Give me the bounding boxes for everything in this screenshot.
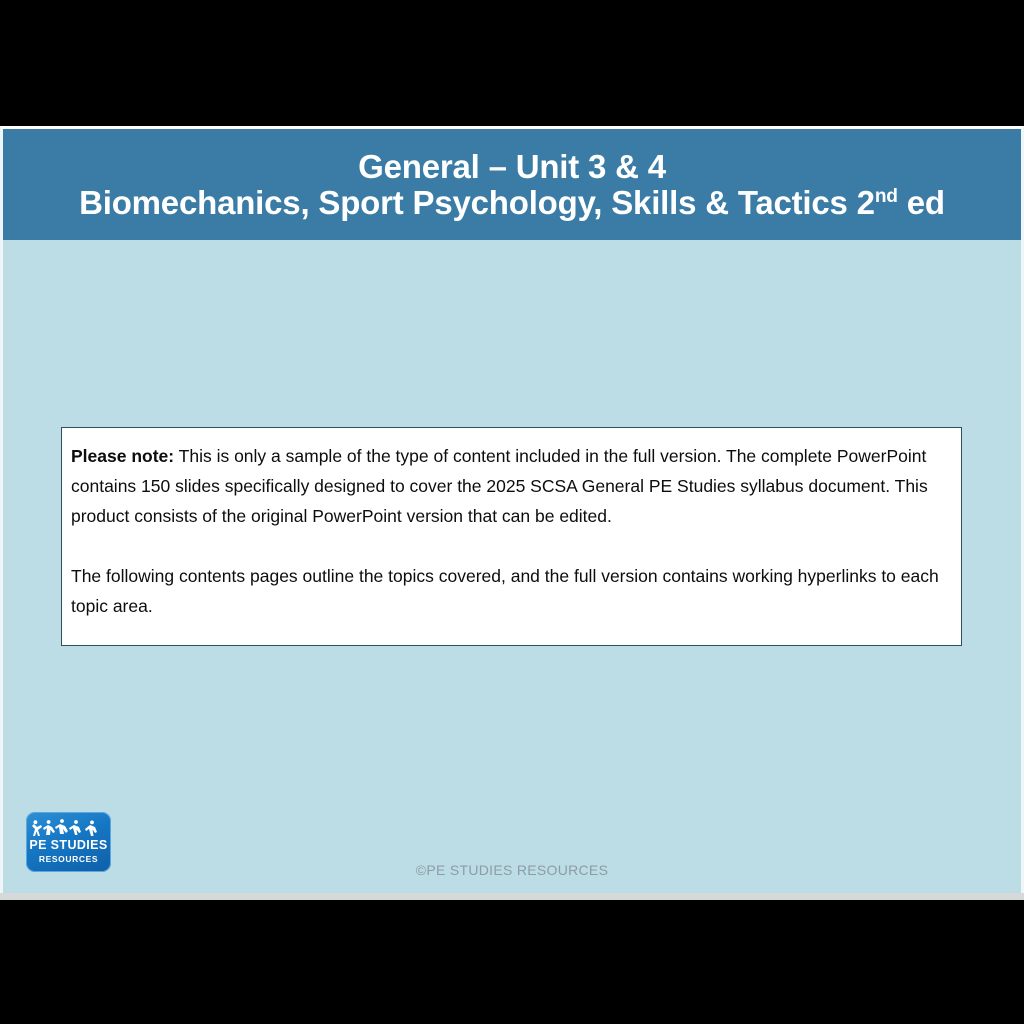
slide-title-banner: General – Unit 3 & 4 Biomechanics, Sport… (3, 129, 1021, 240)
athlete-silhouettes-icon (29, 816, 108, 840)
slide-title-line-1: General – Unit 3 & 4 (358, 149, 666, 185)
slide-bottom-strip (0, 893, 1024, 900)
slide-viewer: General – Unit 3 & 4 Biomechanics, Sport… (0, 0, 1024, 1024)
note-lead-label: Please note: (71, 446, 174, 466)
presentation-slide: General – Unit 3 & 4 Biomechanics, Sport… (0, 126, 1024, 900)
logo-text-pe-studies: PE STUDIES (26, 839, 111, 852)
footer-copyright-text: ©PE STUDIES RESOURCES (0, 862, 1024, 878)
slide-title-line-2-main: Biomechanics, Sport Psychology, Skills &… (79, 184, 875, 221)
slide-title-line-2-tail: ed (898, 184, 945, 221)
slide-title-ordinal-suffix: nd (875, 186, 898, 207)
slide-title-line-2: Biomechanics, Sport Psychology, Skills &… (79, 185, 945, 221)
pe-studies-resources-logo: PE STUDIES RESOURCES (26, 812, 111, 872)
please-note-text-box: Please note: This is only a sample of th… (61, 427, 962, 646)
note-paragraph-1: Please note: This is only a sample of th… (71, 441, 943, 531)
note-paragraph-2: The following contents pages outline the… (71, 561, 943, 621)
note-paragraph-1-body: This is only a sample of the type of con… (71, 446, 928, 526)
logo-text-resources: RESOURCES (26, 854, 111, 864)
